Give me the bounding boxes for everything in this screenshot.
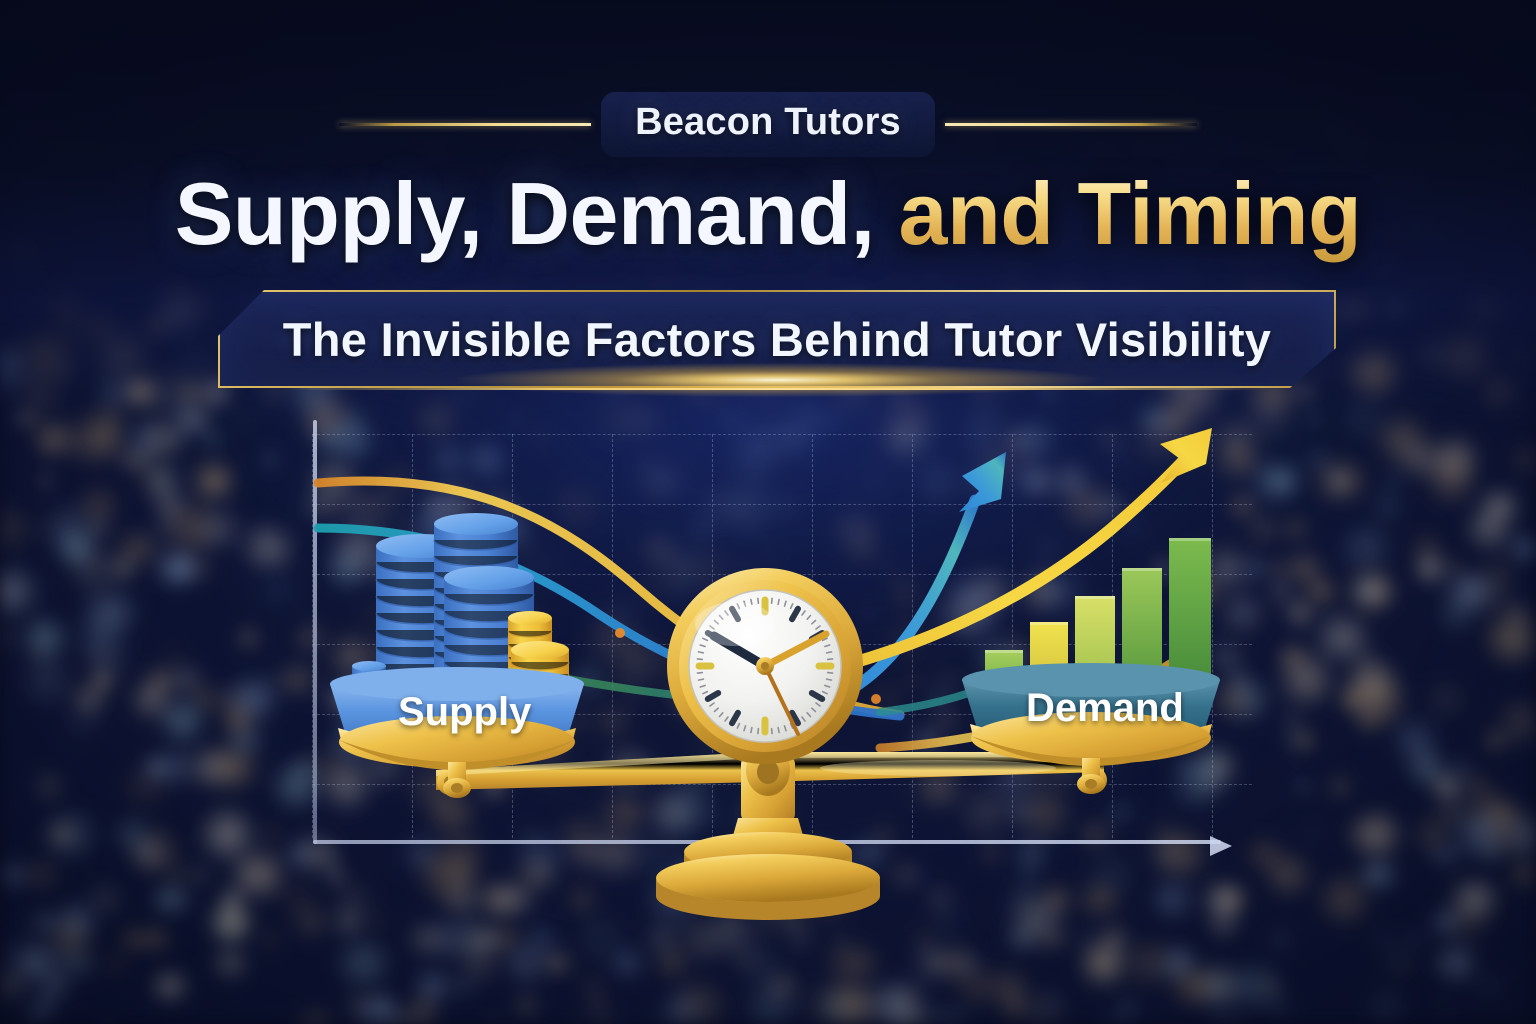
clock-face bbox=[667, 568, 863, 764]
clock-minute-pip bbox=[778, 728, 779, 733]
clock-minute-pip bbox=[699, 679, 704, 680]
supply-pan-label: Supply bbox=[398, 690, 531, 735]
clock-minute-pip bbox=[758, 598, 759, 603]
demand-pan-label: Demand bbox=[1026, 686, 1184, 731]
poster-canvas: Beacon Tutors Supply, Demand, and Timing… bbox=[0, 0, 1536, 1024]
clock-minute-pip bbox=[827, 652, 832, 653]
clock-minute-pip bbox=[751, 728, 752, 733]
clock-minute-pip bbox=[828, 659, 833, 660]
clock-minute-pip bbox=[827, 679, 832, 680]
clock-minute-pip bbox=[772, 598, 773, 603]
clock-minute-pip bbox=[699, 652, 704, 653]
clock-minute-pip bbox=[751, 600, 752, 605]
balance-scale bbox=[0, 0, 1536, 1024]
clock-minute-pip bbox=[778, 600, 779, 605]
clock-minute-pip bbox=[758, 729, 759, 734]
clock-minute-pip bbox=[772, 729, 773, 734]
clock-minute-pip bbox=[828, 673, 833, 674]
clock-minute-pip bbox=[697, 659, 702, 660]
clock-minute-pip bbox=[697, 673, 702, 674]
